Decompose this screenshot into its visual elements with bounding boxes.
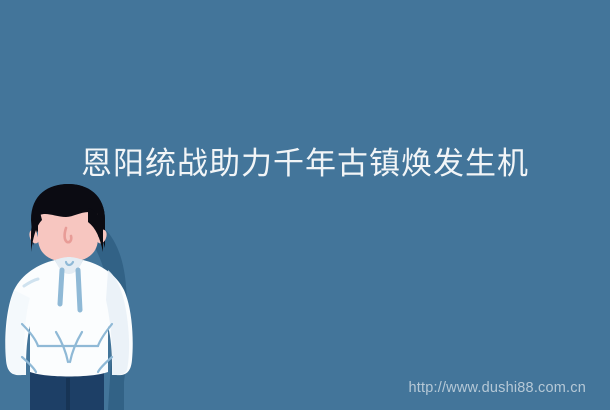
source-url-watermark: http://www.dushi88.com.cn: [409, 380, 586, 396]
image-card: 恩阳统战助力千年古镇焕发生机: [0, 0, 610, 410]
illustration-boy-in-white-hoodie: [0, 182, 150, 410]
page-title: 恩阳统战助力千年古镇焕发生机: [0, 144, 610, 184]
